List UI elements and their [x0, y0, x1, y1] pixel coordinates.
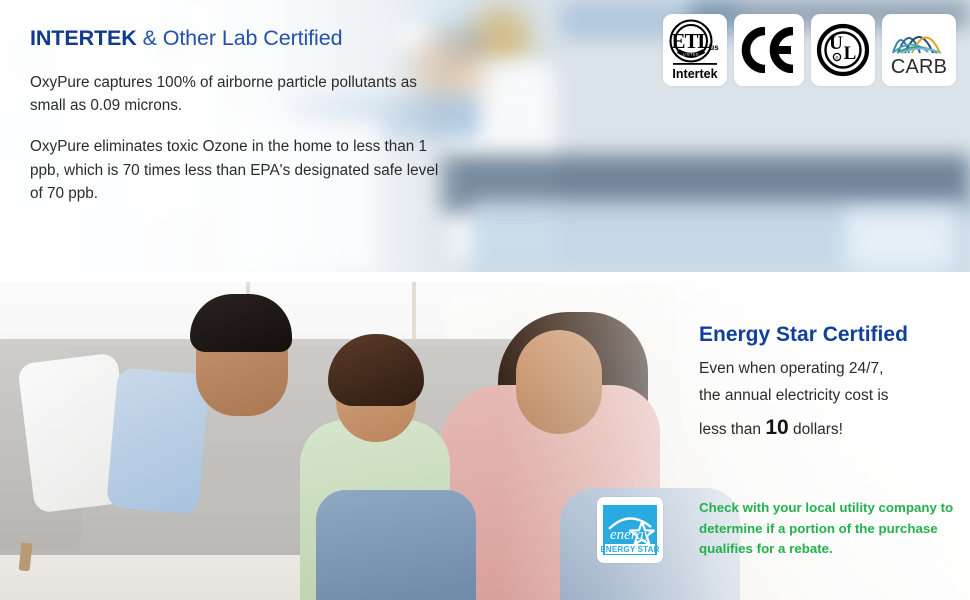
top-panel-text-block: INTERTEK & Other Lab Certified OxyPure c… [30, 26, 450, 205]
svg-text:LISTED: LISTED [683, 52, 699, 57]
svg-text:us: us [709, 43, 719, 52]
product-feature-banner: INTERTEK & Other Lab Certified OxyPure c… [0, 0, 970, 600]
energy-star-icon: energy ENERGY STAR [601, 501, 659, 559]
etl-intertek-badge: ETL LISTED us Intertek [663, 14, 727, 86]
ce-mark-icon [741, 27, 797, 73]
svg-text:ENERGY STAR: ENERGY STAR [601, 545, 659, 554]
certification-badge-row: ETL LISTED us Intertek [663, 14, 956, 86]
bottom-line-3-pre: less than [699, 421, 765, 438]
annual-cost-value: 10 [765, 416, 788, 439]
bottom-line-3: less than 10 dollars! [699, 410, 964, 446]
ce-badge [734, 14, 804, 86]
panel-divider [0, 272, 970, 282]
svg-text:energy: energy [610, 527, 651, 543]
bottom-panel-body: Even when operating 24/7, the annual ele… [699, 356, 964, 445]
bottom-line-1: Even when operating 24/7, [699, 356, 964, 383]
ul-mark-icon: U L R [816, 23, 870, 77]
svg-text:ETL: ETL [671, 29, 711, 53]
bottom-panel-text-block: Energy Star Certified Even when operatin… [699, 322, 964, 446]
energy-star-logo: energy ENERGY STAR [597, 497, 663, 563]
top-panel-body: OxyPure captures 100% of airborne partic… [30, 71, 450, 205]
top-paragraph-1: OxyPure captures 100% of airborne partic… [30, 71, 450, 118]
ul-badge: U L R [811, 14, 875, 86]
carb-mark-icon: CARB [887, 21, 951, 79]
svg-text:U: U [829, 33, 843, 54]
bottom-line-2: the annual electricity cost is [699, 383, 964, 410]
bottom-line-3-post: dollars! [789, 421, 843, 438]
etl-intertek-icon: ETL LISTED us Intertek [667, 18, 723, 82]
svg-text:Intertek: Intertek [672, 67, 717, 81]
carb-badge: CARB [882, 14, 956, 86]
svg-text:L: L [844, 43, 857, 64]
headline-brand-intertek: INTERTEK [30, 26, 137, 50]
bottom-panel-headline: Energy Star Certified [699, 322, 964, 347]
svg-text:CARB: CARB [891, 56, 947, 78]
top-panel-headline: INTERTEK & Other Lab Certified [30, 26, 450, 52]
headline-remainder: & Other Lab Certified [137, 26, 343, 50]
top-paragraph-2: OxyPure eliminates toxic Ozone in the ho… [30, 135, 450, 205]
top-panel-lab-certified: INTERTEK & Other Lab Certified OxyPure c… [0, 0, 970, 272]
rebate-note: Check with your local utility company to… [699, 498, 970, 560]
